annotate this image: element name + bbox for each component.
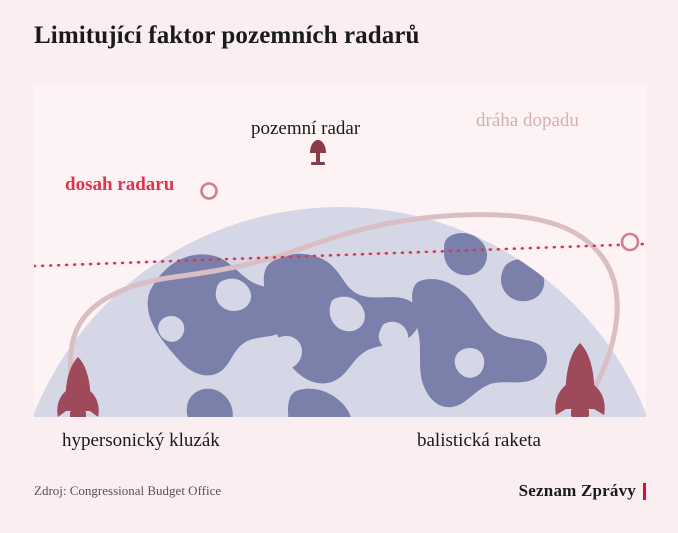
- infographic-page: Limitující faktor pozemních radarů: [0, 0, 678, 533]
- label-ground-radar: pozemní radar: [251, 118, 361, 139]
- label-radar-range: dosah radaru: [65, 174, 175, 195]
- brand-name: Seznam Zprávy: [519, 481, 636, 501]
- label-impact-path: dráha dopadu: [476, 110, 579, 131]
- brand-logo: Seznam Zprávy: [519, 481, 646, 501]
- caption-ballistic: balistická raketa: [417, 430, 541, 452]
- caption-hypersonic: hypersonický kluzák: [62, 430, 220, 452]
- range-endpoint-left-icon: [202, 184, 217, 199]
- page-title: Limitující faktor pozemních radarů: [34, 22, 420, 50]
- source-note: Zdroj: Congressional Budget Office: [34, 483, 221, 499]
- range-endpoint-right-icon: [622, 234, 638, 250]
- diagram-figure: dosah radaru pozemní radar dráha dopadu: [34, 85, 646, 417]
- brand-bar-icon: [643, 483, 646, 500]
